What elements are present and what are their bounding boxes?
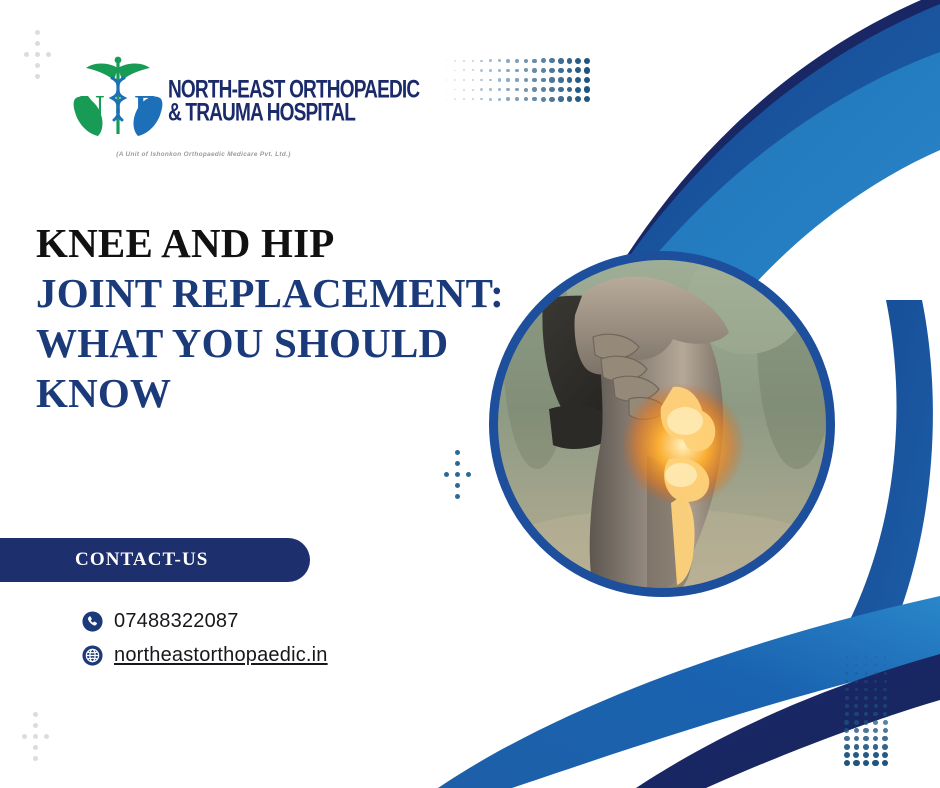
logo-name-line-2: & TRAUMA HOSPITAL [168, 98, 326, 126]
photo-ring [489, 251, 835, 597]
globe-icon [82, 645, 103, 666]
logo-monogram-n: N [80, 89, 105, 126]
logo-monogram-e: E [135, 89, 158, 126]
hospital-logo: N E NORTH-EAST ORTHOPAEDIC & TRAUMA HOSP… [68, 52, 338, 170]
phone-number: 07488322087 [114, 610, 239, 633]
contact-row-website[interactable]: northeastorthopaedic.in [82, 638, 328, 672]
top-halftone-grid [442, 56, 592, 104]
headline-line-4: KNOW [36, 368, 516, 418]
contact-us-label: CONTACT-US [75, 549, 208, 571]
headline-line-2: JOINT REPLACEMENT: [36, 268, 516, 318]
caduceus-with-hands-emblem: N E [68, 52, 168, 152]
poster-canvas: N E NORTH-EAST ORTHOPAEDIC & TRAUMA HOSP… [0, 0, 940, 788]
website-url[interactable]: northeastorthopaedic.in [114, 644, 328, 667]
phone-icon [82, 611, 103, 632]
bottom-right-halftone-grid [842, 628, 890, 768]
contact-list: 07488322087 northeastorthopaedic.in [82, 604, 328, 672]
contact-row-phone[interactable]: 07488322087 [82, 604, 328, 638]
page-title: KNEE AND HIP JOINT REPLACEMENT: WHAT YOU… [36, 218, 516, 418]
logo-wordmark: NORTH-EAST ORTHOPAEDIC & TRAUMA HOSPITAL [168, 78, 338, 124]
headline-line-1: KNEE AND HIP [36, 218, 516, 268]
logo-tagline: (A Unit of Ishonkon Orthopaedic Medicare… [71, 151, 336, 158]
headline-line-3: WHAT YOU SHOULD [36, 318, 516, 368]
contact-us-banner: CONTACT-US [0, 538, 310, 582]
